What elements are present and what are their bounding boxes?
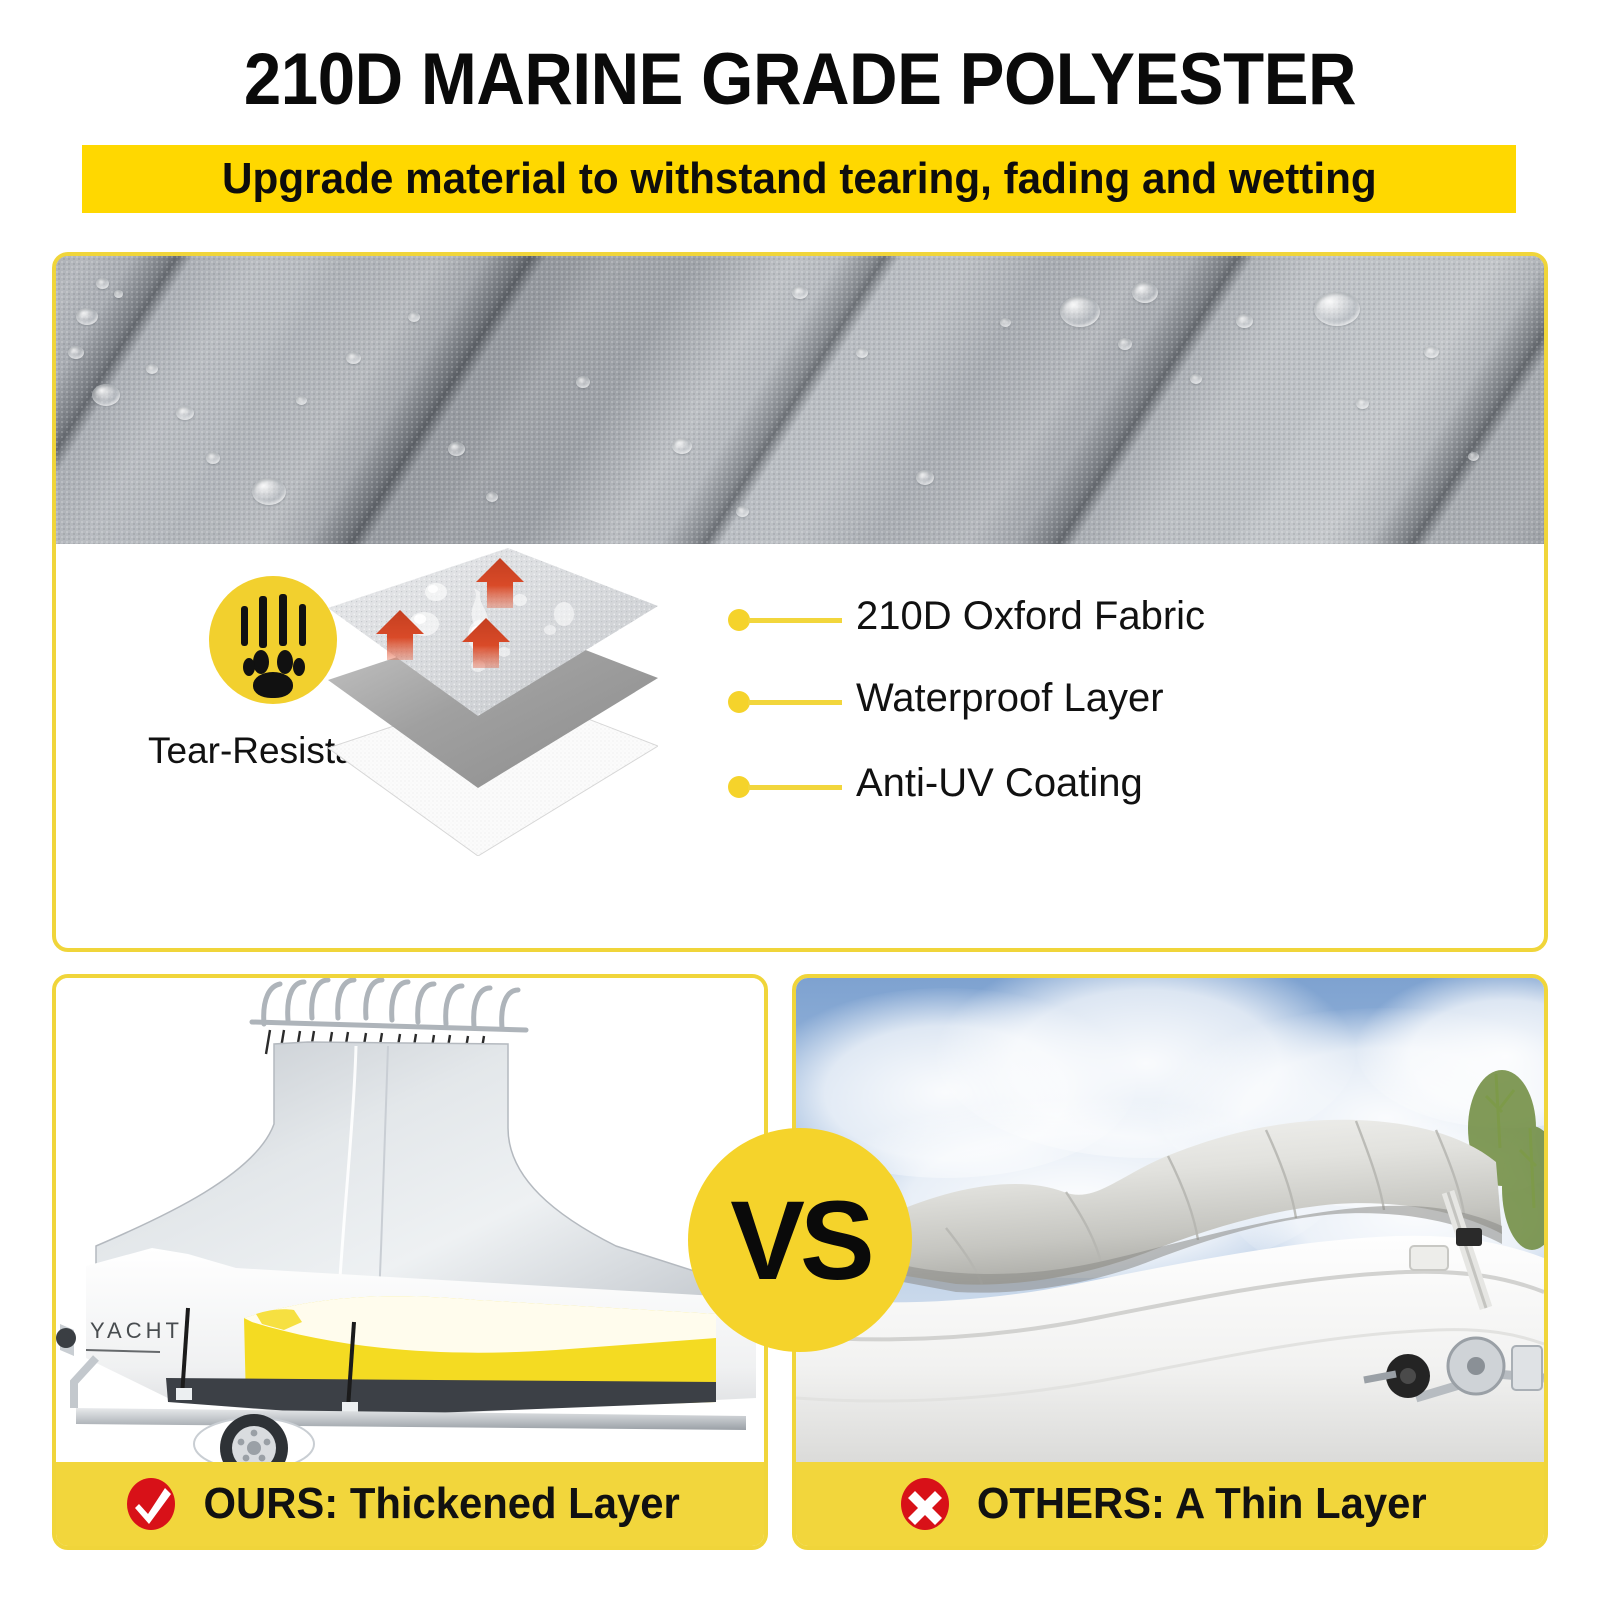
ours-panel: YACHT OURS: Thickened Layer	[52, 974, 768, 1550]
water-droplet	[68, 346, 84, 359]
water-droplet	[408, 312, 420, 322]
water-droplet	[296, 396, 307, 405]
infographic-page: 210D MARINE GRADE POLYESTER Upgrade mate…	[0, 0, 1600, 1600]
check-mark-icon	[127, 1478, 175, 1530]
water-droplet	[206, 452, 220, 464]
water-droplet	[576, 376, 590, 388]
ours-boat-photo: YACHT	[56, 978, 764, 1470]
features-row: Tear-Resistance Fastness	[56, 544, 1544, 952]
leader-dot-waterproof	[728, 691, 750, 713]
water-droplet	[346, 352, 361, 364]
svg-text:YACHT: YACHT	[90, 1318, 183, 1343]
water-droplet	[1236, 314, 1253, 328]
cross-mark-icon	[901, 1478, 949, 1530]
leader-dot-oxford	[728, 609, 750, 631]
water-droplet	[76, 308, 98, 325]
others-caption-text: OTHERS: A Thin Layer	[977, 1479, 1427, 1529]
water-droplet	[1060, 296, 1100, 327]
leader-dot-antiuv	[728, 776, 750, 798]
layer-label-antiuv: Anti-UV Coating	[856, 761, 1143, 806]
water-droplet	[672, 438, 692, 454]
water-droplet	[916, 470, 934, 485]
page-title: 210D MARINE GRADE POLYESTER	[64, 38, 1536, 121]
layer-label-waterproof: Waterproof Layer	[856, 676, 1164, 721]
leader-line-waterproof	[748, 700, 842, 705]
layer-oxford-fabric	[328, 548, 658, 716]
water-droplet	[792, 286, 808, 299]
subtitle-text: Upgrade material to withstand tearing, f…	[222, 154, 1377, 204]
vs-label: VS	[730, 1176, 869, 1305]
water-droplet	[92, 384, 120, 406]
water-droplet	[736, 506, 749, 517]
water-droplet	[1190, 374, 1202, 384]
others-caption-bar: OTHERS: A Thin Layer	[796, 1462, 1544, 1546]
water-droplet	[1132, 282, 1158, 303]
leader-line-oxford	[748, 618, 842, 623]
layer-stack-diagram	[328, 548, 728, 858]
ours-caption-bar: OURS: Thickened Layer	[56, 1462, 764, 1546]
water-droplet	[1118, 338, 1132, 350]
claw-scratch-icon	[209, 576, 337, 704]
water-droplet	[486, 492, 498, 502]
material-panel: Tear-Resistance Fastness	[52, 252, 1548, 952]
water-droplet	[856, 348, 868, 358]
tear-resistance-badge	[209, 576, 337, 704]
water-droplet	[252, 478, 286, 505]
water-droplet	[96, 278, 109, 289]
water-droplet	[1468, 452, 1479, 461]
water-droplet	[146, 364, 158, 374]
water-droplet	[114, 290, 123, 298]
water-droplet	[448, 442, 465, 456]
fabric-closeup-photo	[56, 256, 1544, 544]
water-droplet	[1356, 398, 1369, 409]
vs-badge: VS	[688, 1128, 912, 1352]
water-droplet	[1000, 318, 1011, 327]
layer-label-oxford: 210D Oxford Fabric	[856, 594, 1205, 639]
water-droplet	[1424, 346, 1439, 358]
subtitle-banner: Upgrade material to withstand tearing, f…	[82, 145, 1516, 213]
water-droplet	[1314, 292, 1360, 326]
ours-caption-text: OURS: Thickened Layer	[204, 1479, 680, 1529]
moisture-escape-arrows	[328, 548, 658, 748]
water-droplet	[176, 406, 194, 420]
leader-line-antiuv	[748, 785, 842, 790]
